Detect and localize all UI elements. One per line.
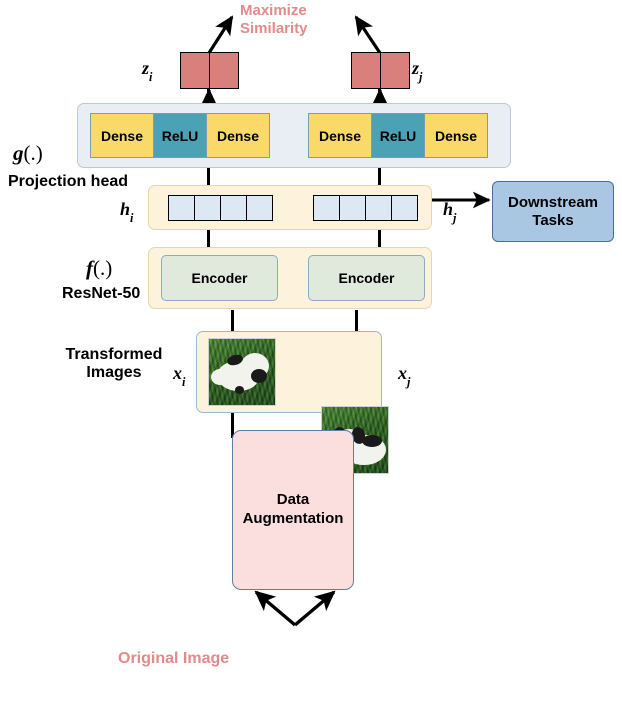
encoder-fn-symbol: f(.) — [86, 256, 112, 281]
dog-back-marking — [362, 435, 382, 447]
relu-block[interactable]: ReLU — [371, 113, 425, 158]
transformed-images-caption: Transformed Images — [52, 346, 176, 383]
arrow-z-j-to-similarity — [356, 17, 380, 53]
arrow-original-to-aug-left — [256, 592, 295, 625]
f-paren: (.) — [93, 256, 112, 280]
h-j-vector — [313, 195, 418, 221]
x-j-symbol: x — [398, 363, 407, 383]
h-cell — [339, 195, 366, 221]
projection-head-right-mlp: Dense ReLU Dense — [308, 113, 488, 158]
projection-head-caption: Projection head — [8, 173, 128, 191]
f-symbol: f — [86, 256, 93, 280]
h-cell — [168, 195, 195, 221]
h-i-symbol: h — [120, 199, 130, 219]
arrow-original-to-aug-right — [295, 592, 334, 625]
z-i-label: zi — [142, 58, 152, 83]
h-i-vector — [168, 195, 273, 221]
transformed-caption-line1: Transformed — [52, 346, 176, 364]
h-cell — [246, 195, 273, 221]
downstream-tasks-block[interactable]: Downstream Tasks — [492, 181, 614, 242]
relu-block[interactable]: ReLU — [153, 113, 207, 158]
dog-nose — [235, 386, 244, 394]
downstream-line1: Downstream — [508, 194, 598, 212]
h-cell — [220, 195, 247, 221]
z-i-vector — [180, 52, 239, 89]
original-image-caption: Original Image — [118, 649, 229, 668]
dog-tail — [211, 369, 229, 385]
projection-head-left-mlp: Dense ReLU Dense — [90, 113, 270, 158]
x-i-label: xi — [173, 363, 185, 388]
dense-block[interactable]: Dense — [90, 113, 154, 158]
z-j-vector — [351, 52, 410, 89]
dense-block[interactable]: Dense — [206, 113, 270, 158]
x-j-label: xj — [398, 363, 410, 388]
h-cell — [391, 195, 418, 221]
h-cell — [313, 195, 340, 221]
z-cell — [351, 52, 381, 89]
projection-fn-symbol: g(.) — [13, 141, 43, 166]
transformed-caption-line2: Images — [52, 364, 176, 382]
data-augmentation-block[interactable]: Data Augmentation — [232, 430, 354, 590]
g-symbol: g — [13, 141, 24, 165]
h-i-subscript: i — [130, 211, 133, 225]
z-j-subscript: j — [419, 70, 422, 84]
augmentation-line2: Augmentation — [243, 510, 344, 529]
maximize-similarity-line2: Similarity — [240, 20, 308, 38]
z-j-symbol: z — [412, 58, 419, 78]
z-i-symbol: z — [142, 58, 149, 78]
z-cell — [380, 52, 410, 89]
x-i-symbol: x — [173, 363, 182, 383]
dense-block[interactable]: Dense — [424, 113, 488, 158]
arrow-z-i-to-similarity — [209, 17, 232, 53]
z-j-label: zj — [412, 58, 422, 83]
h-j-symbol: h — [443, 199, 453, 219]
transformed-image-i — [208, 338, 276, 406]
dog-marking — [251, 369, 267, 383]
diagram-canvas: Maximize Similarity zi zj Dense ReLU Den… — [0, 0, 622, 701]
h-i-label: hi — [120, 199, 133, 224]
encoder-left-block[interactable]: Encoder — [161, 255, 278, 301]
h-cell — [194, 195, 221, 221]
downstream-line2: Tasks — [532, 212, 573, 230]
maximize-similarity-label: Maximize Similarity — [240, 2, 308, 38]
encoder-caption: ResNet-50 — [62, 285, 140, 303]
h-j-subscript: j — [453, 211, 456, 225]
h-j-label: hj — [443, 199, 456, 224]
z-i-subscript: i — [149, 70, 152, 84]
x-j-subscript: j — [407, 375, 410, 389]
h-cell — [365, 195, 392, 221]
encoder-right-block[interactable]: Encoder — [308, 255, 425, 301]
augmentation-line1: Data — [277, 491, 310, 510]
g-paren: (.) — [24, 141, 43, 165]
z-cell — [209, 52, 239, 89]
z-cell — [180, 52, 210, 89]
maximize-similarity-line1: Maximize — [240, 2, 308, 20]
x-i-subscript: i — [182, 375, 185, 389]
dense-block[interactable]: Dense — [308, 113, 372, 158]
